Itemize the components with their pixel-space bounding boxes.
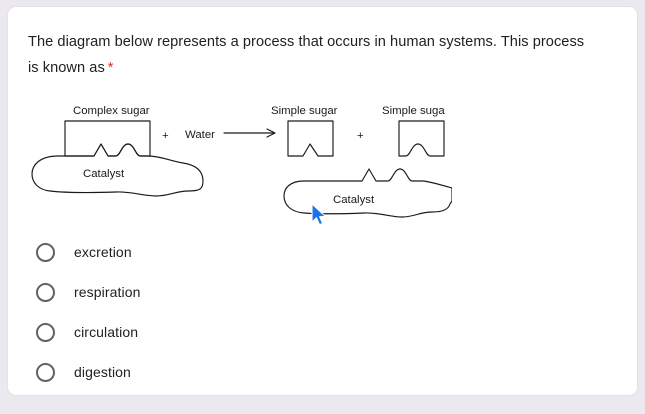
- water-label: Water: [185, 129, 215, 141]
- page-title: The diagram below represents a process t…: [28, 29, 598, 81]
- plus-sign-products: +: [357, 130, 364, 142]
- reaction-arrow-icon: [224, 129, 275, 137]
- complex-sugar-shape: [65, 121, 150, 156]
- option-label-respiration: respiration: [74, 284, 140, 300]
- option-row-digestion[interactable]: digestion: [30, 352, 430, 392]
- option-label-circulation: circulation: [74, 324, 138, 340]
- radio-button-respiration[interactable]: [36, 283, 55, 302]
- option-label-digestion: digestion: [74, 364, 131, 380]
- catalyst-label-left: Catalyst: [83, 168, 125, 180]
- catalyst-shape-right: [284, 169, 452, 217]
- catalyst-label-right: Catalyst: [333, 194, 375, 206]
- radio-button-circulation[interactable]: [36, 323, 55, 342]
- simple-sugar-label-1: Simple sugar: [271, 105, 338, 117]
- reaction-diagram: Complex sugar Catalyst + Water Simple su…: [28, 93, 452, 228]
- answer-options: excretion respiration circulation digest…: [30, 232, 430, 392]
- simple-sugar-label-2: Simple suga: [382, 105, 445, 117]
- question-card: The diagram below represents a process t…: [7, 6, 638, 396]
- complex-sugar-label: Complex sugar: [73, 105, 150, 117]
- option-row-excretion[interactable]: excretion: [30, 232, 430, 272]
- option-label-excretion: excretion: [74, 244, 132, 260]
- radio-button-excretion[interactable]: [36, 243, 55, 262]
- simple-sugar-shape-1: [288, 121, 333, 156]
- reaction-diagram-svg: Complex sugar Catalyst + Water Simple su…: [28, 93, 452, 228]
- required-asterisk: *: [108, 60, 114, 76]
- simple-sugar-shape-2: [399, 121, 444, 156]
- option-row-circulation[interactable]: circulation: [30, 312, 430, 352]
- option-row-respiration[interactable]: respiration: [30, 272, 430, 312]
- radio-button-digestion[interactable]: [36, 363, 55, 382]
- plus-sign-reactants: +: [162, 130, 169, 142]
